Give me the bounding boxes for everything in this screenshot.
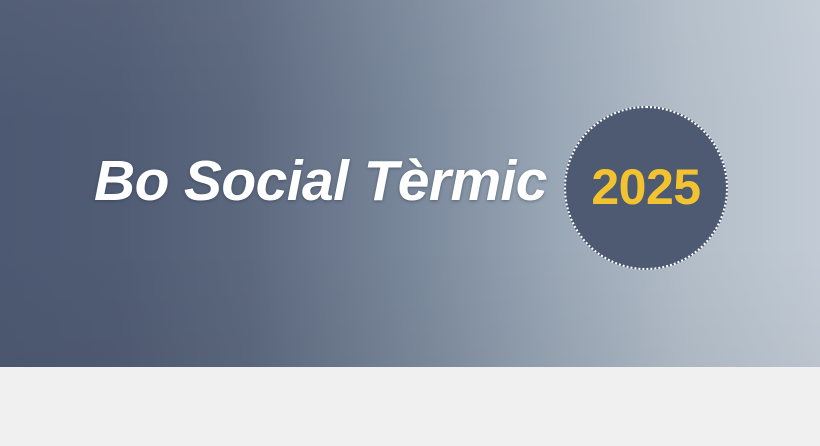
- promotional-banner: Bo Social Tèrmic 2025 ★ ★ ★: [0, 0, 820, 446]
- footer-bar: ★ ★ ★: [0, 367, 820, 446]
- year-badge-label: 2025: [591, 162, 700, 212]
- year-badge: 2025: [564, 106, 728, 270]
- page-title: Bo Social Tèrmic: [94, 150, 547, 212]
